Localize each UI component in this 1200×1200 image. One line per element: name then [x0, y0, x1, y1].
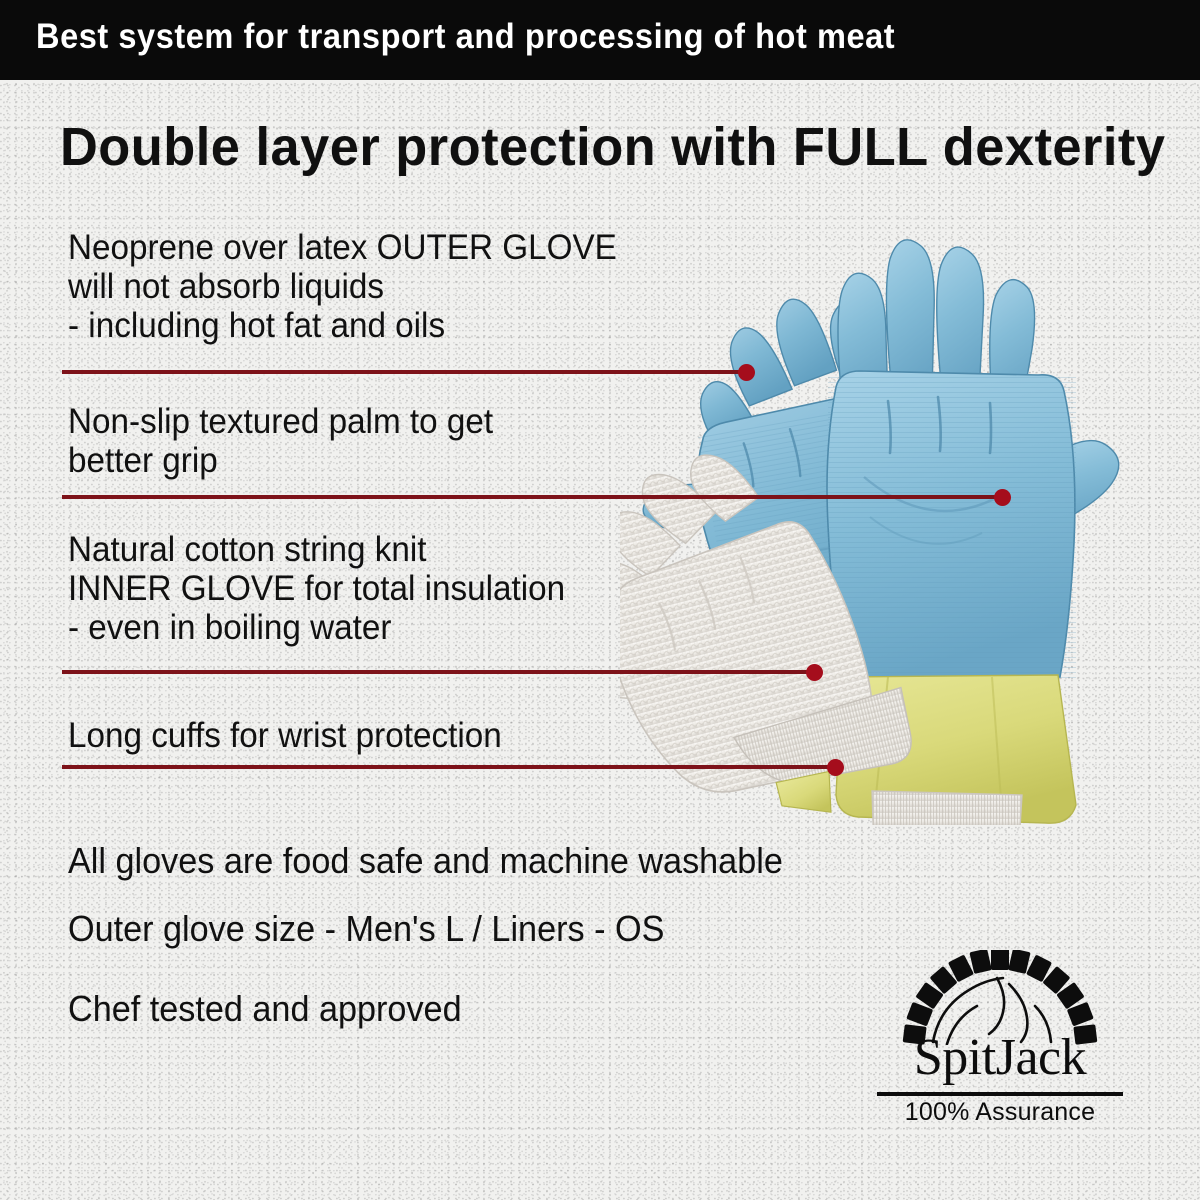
banner-tagline: Best system for transport and processing… [36, 17, 895, 57]
logo-divider [877, 1092, 1123, 1096]
logo-tagline: 100% Assurance [865, 1098, 1135, 1127]
leader-dot-inner-glove [806, 664, 823, 681]
callout-textured-palm-text: Non-slip textured palm to get better gri… [68, 402, 493, 480]
leader-dot-long-cuffs [827, 759, 844, 776]
callout-outer-glove-text: Neoprene over latex OUTER GLOVE will not… [68, 228, 617, 346]
spitjack-logo: SpitJack 100% Assurance [865, 950, 1135, 1130]
leader-dot-textured-palm [994, 489, 1011, 506]
feature-food-safe: All gloves are food safe and machine was… [68, 840, 783, 882]
product-photo [620, 225, 1200, 825]
feature-glove-size: Outer glove size - Men's L / Liners - OS [68, 908, 664, 950]
leader-line-long-cuffs [62, 765, 836, 769]
page-title: Double layer protection with FULL dexter… [60, 116, 1117, 178]
callout-long-cuffs-text: Long cuffs for wrist protection [68, 716, 502, 755]
callout-inner-glove-text: Natural cotton string knit INNER GLOVE f… [68, 530, 565, 648]
product-infographic: Best system for transport and processing… [0, 0, 1200, 1200]
feature-chef-tested: Chef tested and approved [68, 988, 462, 1030]
callout-long-cuffs: Long cuffs for wrist protection [68, 716, 525, 755]
callout-textured-palm: Non-slip textured palm to get better gri… [68, 402, 515, 480]
leader-line-outer-glove [62, 370, 748, 374]
callout-inner-glove: Natural cotton string knit INNER GLOVE f… [68, 530, 591, 648]
leader-line-textured-palm [62, 495, 1003, 499]
leader-line-inner-glove [62, 670, 815, 674]
leader-dot-outer-glove [738, 364, 755, 381]
top-banner: Best system for transport and processing… [0, 0, 1200, 80]
logo-wordmark: SpitJack [865, 1028, 1135, 1087]
callout-outer-glove: Neoprene over latex OUTER GLOVE will not… [68, 228, 646, 346]
